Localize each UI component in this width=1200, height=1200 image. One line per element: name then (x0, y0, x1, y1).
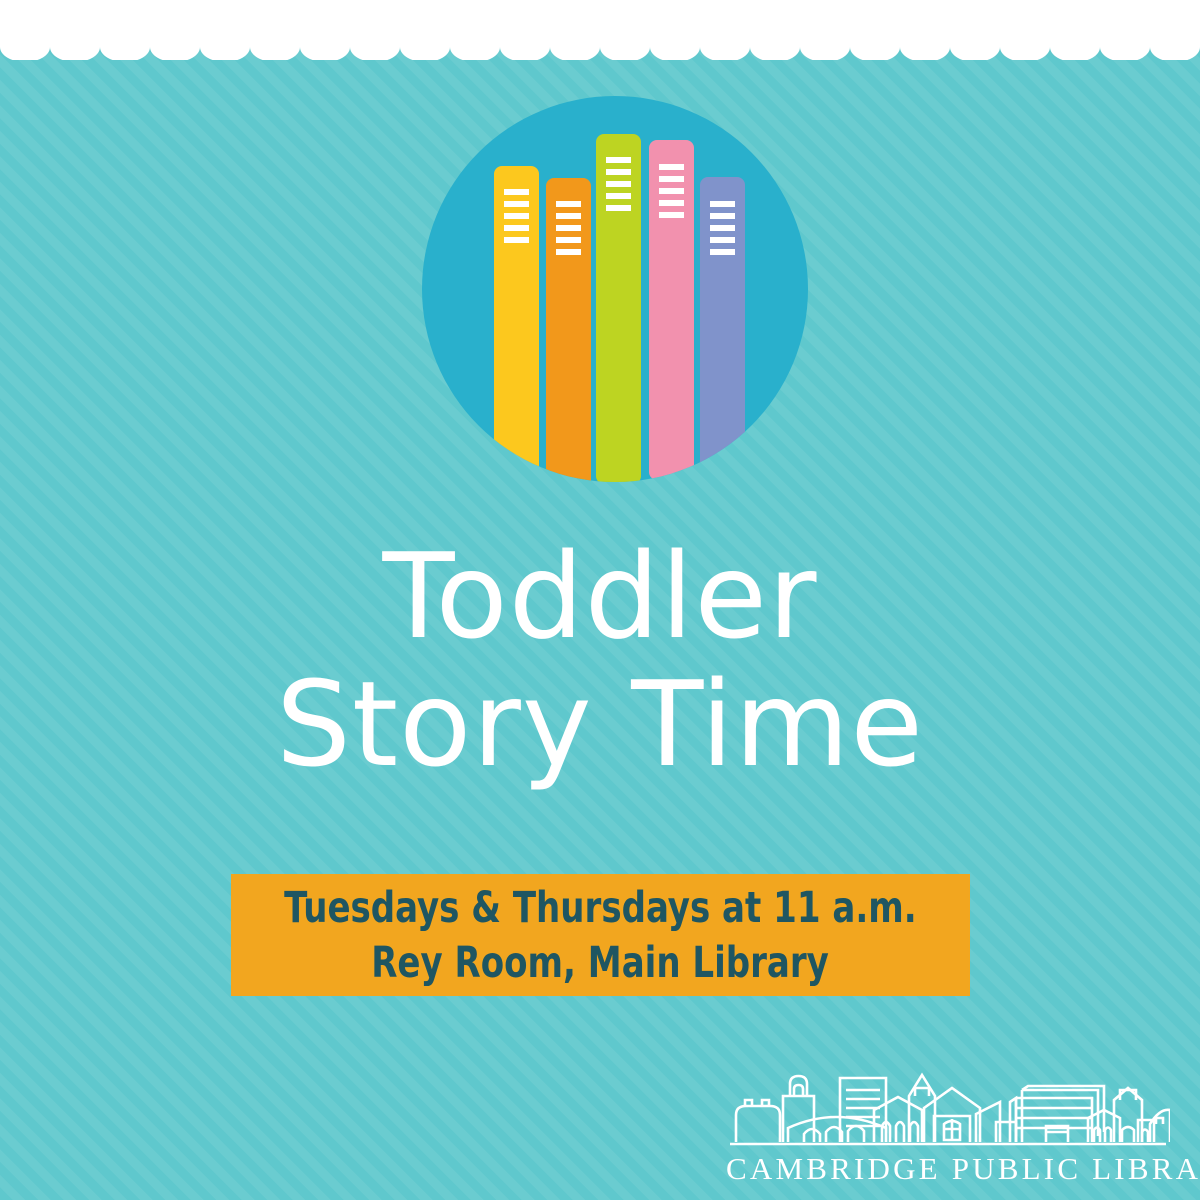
cambridge-skyline-icon (726, 1068, 1170, 1148)
banner-line-location: Rey Room, Main Library (372, 936, 830, 991)
books-group (494, 134, 745, 482)
book-orange (546, 178, 591, 482)
book-yellow (494, 166, 539, 482)
title-line-2: Story Time (0, 660, 1200, 788)
title-line-1: Toddler (0, 532, 1200, 660)
book-purple (700, 177, 745, 477)
books-badge (422, 96, 808, 482)
page-title: Toddler Story Time (0, 532, 1200, 788)
book-pink (649, 140, 694, 480)
poster-canvas: Toddler Story Time Tuesdays & Thursdays … (0, 0, 1200, 1200)
scalloped-top-border (0, 0, 1200, 60)
event-details-banner: Tuesdays & Thursdays at 11 a.m. Rey Room… (231, 874, 970, 996)
logo-wordmark: CAMBRIDGE PUBLIC LIBRARY (726, 1152, 1170, 1186)
book-green (596, 134, 641, 482)
banner-line-schedule: Tuesdays & Thursdays at 11 a.m. (284, 881, 917, 936)
library-logo: CAMBRIDGE PUBLIC LIBRARY (726, 1068, 1170, 1186)
